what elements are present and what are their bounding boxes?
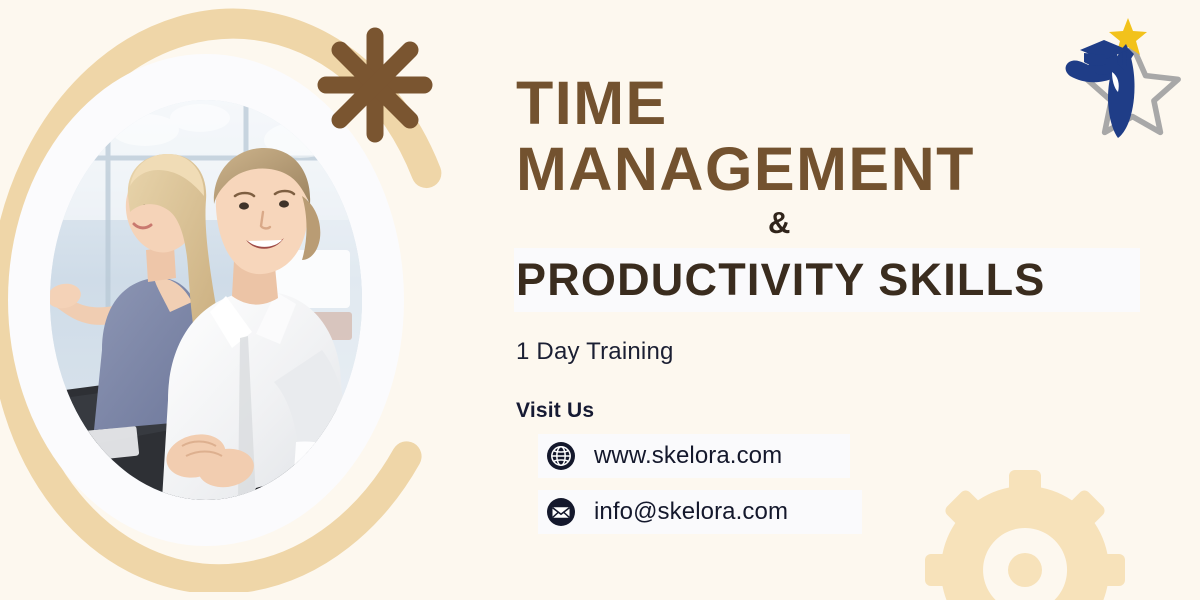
globe-icon (546, 441, 576, 471)
two-businesswomen-photo (50, 100, 362, 500)
headline-line-3: PRODUCTIVITY SKILLS (516, 257, 1138, 302)
contact-row-email[interactable]: info@skelora.com (538, 490, 862, 534)
promotional-banner: TIME MANAGEMENT & PRODUCTIVITY SKILLS 1 … (0, 0, 1200, 600)
contact-value-website: www.skelora.com (594, 442, 782, 470)
headline-connector: & (768, 207, 1156, 238)
text-content: TIME MANAGEMENT & PRODUCTIVITY SKILLS 1 … (516, 74, 1156, 534)
asterisk-decoration (313, 23, 437, 147)
contact-heading: Visit Us (516, 399, 1156, 423)
envelope-icon (546, 497, 576, 527)
headline-line-1: TIME (516, 74, 1156, 134)
contact-row-website[interactable]: www.skelora.com (538, 434, 850, 478)
training-duration: 1 Day Training (516, 338, 1156, 366)
contact-value-email: info@skelora.com (594, 498, 788, 526)
subtitle-band: PRODUCTIVITY SKILLS (514, 248, 1140, 312)
headline-line-2: MANAGEMENT (516, 140, 1156, 200)
